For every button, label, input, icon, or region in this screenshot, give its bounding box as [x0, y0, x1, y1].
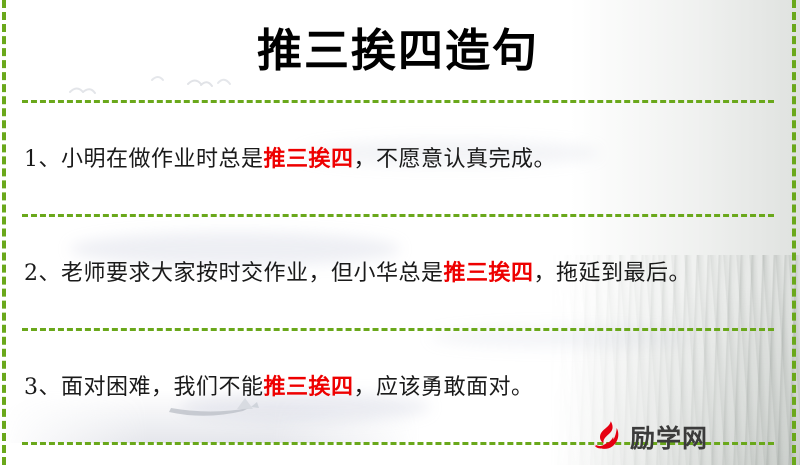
divider-top [22, 100, 774, 103]
divider-2 [22, 328, 774, 331]
sentence-text-before: 老师要求大家按时交作业，但小华总是 [61, 261, 444, 286]
idiom-highlight: 推三挨四 [444, 260, 534, 286]
sentence-number: 3、 [24, 375, 61, 400]
sentence-item-3: 3、面对困难，我们不能推三挨四，应该勇敢面对。 [22, 353, 774, 420]
content-area: 推三挨四造句 1、小明在做作业时总是推三挨四，不愿意认真完成。 2、老师要求大家… [0, 0, 800, 465]
border-left-dashed [2, 0, 6, 465]
site-logo-text: 励学网 [630, 419, 708, 455]
sentence-item-1: 1、小明在做作业时总是推三挨四，不愿意认真完成。 [22, 125, 774, 192]
sentence-number: 2、 [24, 261, 61, 286]
sentence-number: 1、 [24, 147, 61, 172]
poster-page: 推三挨四造句 1、小明在做作业时总是推三挨四，不愿意认真完成。 2、老师要求大家… [0, 0, 800, 465]
sentence-text-before: 小明在做作业时总是 [61, 147, 264, 172]
idiom-highlight: 推三挨四 [264, 374, 354, 400]
divider-1 [22, 214, 774, 217]
sentence-item-2: 2、老师要求大家按时交作业，但小华总是推三挨四，拖延到最后。 [22, 239, 774, 306]
border-right-dashed [792, 0, 796, 465]
sentence-text-after: ，拖延到最后。 [534, 261, 692, 286]
sentence-text-after: ，不愿意认真完成。 [354, 147, 557, 172]
flame-swirl-icon [587, 419, 623, 455]
page-title: 推三挨四造句 [22, 0, 774, 80]
site-logo[interactable]: 励学网 [587, 419, 708, 455]
sentence-text-after: ，应该勇敢面对。 [354, 375, 534, 400]
sentence-text-before: 面对困难，我们不能 [61, 375, 264, 400]
idiom-highlight: 推三挨四 [264, 146, 354, 172]
